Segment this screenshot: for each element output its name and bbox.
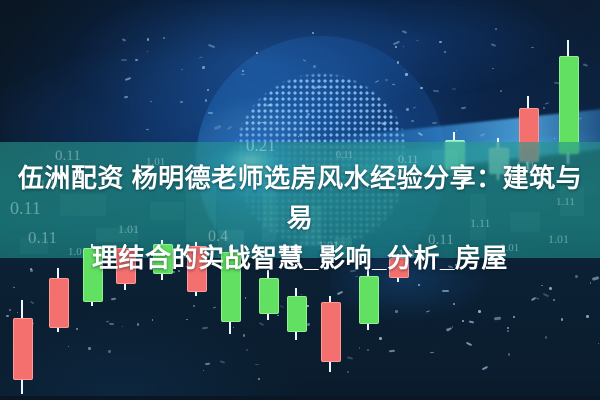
candle-body	[321, 302, 341, 362]
candle-body	[49, 278, 69, 328]
candle-body	[359, 276, 379, 324]
candlestick	[13, 300, 31, 394]
banner-image: 0.110.110.111.011.011.010.210.110.41.011…	[0, 0, 600, 400]
page-title: 伍洲配资 杨明德老师选房风水经验分享：建筑与易 理结合的实战智慧_影响_分析_房…	[0, 158, 600, 278]
candle-body	[287, 296, 307, 332]
bottom-edge	[0, 396, 600, 400]
title-line-2: 理结合的实战智慧_影响_分析_房屋	[0, 238, 600, 278]
candle-body	[259, 278, 279, 314]
candlestick	[287, 288, 305, 340]
title-line-1: 伍洲配资 杨明德老师选房风水经验分享：建筑与易	[0, 158, 600, 238]
candlestick	[321, 296, 339, 372]
candle-body	[13, 318, 33, 380]
